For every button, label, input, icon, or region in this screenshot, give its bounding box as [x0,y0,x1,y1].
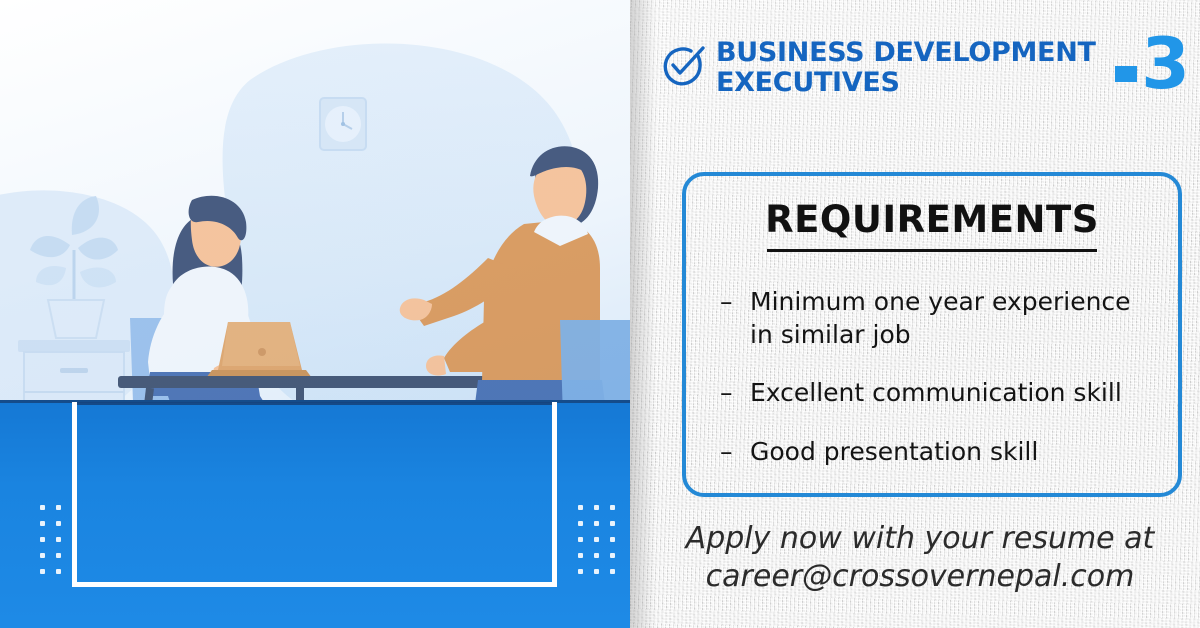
headline-block: we are Hiring Join our amazing team! [0,355,630,585]
requirements-underline [767,249,1097,252]
list-item-text: Good presentation skill [750,436,1038,469]
requirements-box: REQUIREMENTS – Minimum one year experien… [682,172,1182,497]
panel-edge-shadow [630,0,656,628]
bullet-dash: – [720,286,750,319]
vacancy-count-group: 3 [1115,34,1188,96]
right-info-panel: BUSINESS DEVELOPMENT EXECUTIVES 3 REQUIR… [630,0,1200,628]
apply-email[interactable]: career@crossovernepal.com [660,558,1180,596]
list-item: – Good presentation skill [720,436,1148,469]
job-title-row: BUSINESS DEVELOPMENT EXECUTIVES 3 [658,38,1188,98]
left-visual-panel: we are Hiring Join our amazing team! [0,0,630,628]
vacancy-count-number: 3 [1141,34,1188,96]
bullet-dash: – [720,377,750,410]
requirements-list: – Minimum one year experience in similar… [686,286,1178,468]
list-item-text: Excellent communication skill [750,377,1122,410]
apply-instructions: Apply now with your resume at career@cro… [660,520,1180,595]
list-item-text: Minimum one year experience in similar j… [750,286,1148,351]
list-item: – Minimum one year experience in similar… [720,286,1148,351]
job-title-text: BUSINESS DEVELOPMENT EXECUTIVES [716,38,1115,98]
apply-line-1: Apply now with your resume at [660,520,1180,558]
circle-check-icon [658,42,706,90]
list-item: – Excellent communication skill [720,377,1148,410]
vacancy-dash [1115,66,1137,82]
hiring-poster: we are Hiring Join our amazing team! BUS… [0,0,1200,628]
bullet-dash: – [720,436,750,469]
requirements-title: REQUIREMENTS [686,198,1178,241]
